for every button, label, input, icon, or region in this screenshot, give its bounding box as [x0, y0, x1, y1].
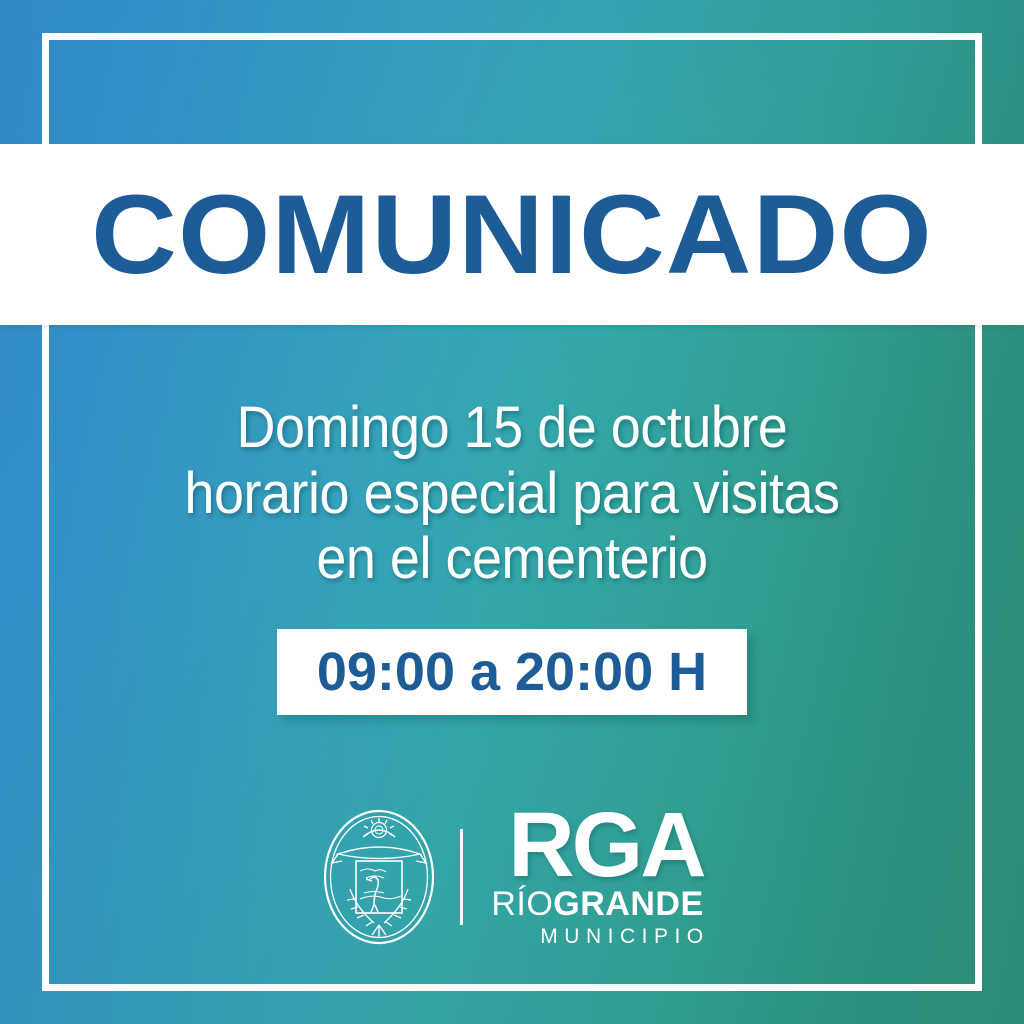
message-block: Domingo 15 de octubre horario especial p…: [0, 395, 1024, 592]
logo-city-grande: GRANDE: [553, 885, 703, 923]
message-line-1: Domingo 15 de octubre: [36, 395, 988, 461]
logo-wordmark: RGA RÍOGRANDE MUNICIPIO: [491, 806, 703, 949]
message-line-3: en el cementerio: [36, 526, 988, 592]
municipality-logo: RGA RÍOGRANDE MUNICIPIO: [0, 806, 1024, 949]
page-title: COMUNICADO: [91, 179, 933, 291]
logo-subtitle: MUNICIPIO: [540, 925, 709, 949]
announcement-poster: COMUNICADO Domingo 15 de octubre horario…: [0, 0, 1024, 1024]
logo-city-name: RÍOGRANDE: [491, 887, 703, 923]
schedule-text: 09:00 a 20:00 H: [317, 641, 707, 703]
message-line-2: horario especial para visitas: [36, 461, 988, 527]
logo-acronym: RGA: [508, 806, 703, 885]
title-banner: COMUNICADO: [0, 144, 1024, 325]
schedule-badge: 09:00 a 20:00 H: [277, 629, 747, 715]
coat-of-arms-icon: [320, 807, 438, 947]
logo-city-rio: RÍO: [491, 885, 553, 923]
logo-divider: [460, 829, 463, 925]
